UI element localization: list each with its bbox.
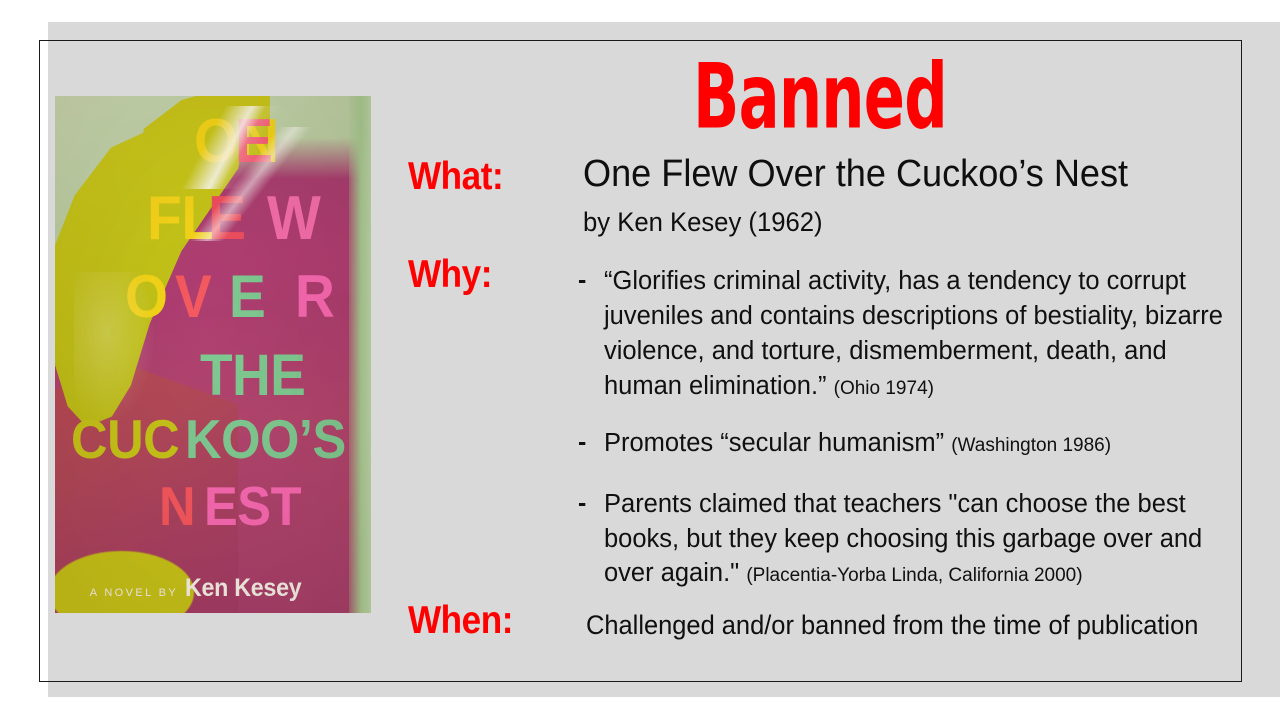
bullet-dash-icon: - — [578, 265, 586, 295]
bullet-dash-icon: - — [578, 488, 586, 518]
reasons-list: - “Glorifies criminal activity, has a te… — [576, 264, 1236, 611]
reason-citation: (Washington 1986) — [951, 435, 1111, 456]
reason-citation: (Placentia-Yorba Linda, California 2000) — [746, 565, 1082, 586]
reason-text: Promotes “secular humanism” — [604, 429, 944, 457]
list-item: - “Glorifies criminal activity, has a te… — [576, 264, 1236, 404]
reason-citation: (Ohio 1974) — [834, 378, 934, 399]
list-item: - Promotes “secular humanism” (Washingto… — [576, 426, 1236, 461]
book-title-text: One Flew Over the Cuckoo’s Nest — [583, 155, 1128, 195]
label-why: Why: — [408, 255, 492, 294]
book-byline-text: by Ken Kesey (1962) — [583, 208, 823, 238]
cover-aging-overlay — [55, 96, 371, 613]
slide-headline: Banned — [492, 52, 1148, 142]
when-value-text: Challenged and/or banned from the time o… — [586, 611, 1198, 640]
bullet-dash-icon: - — [578, 427, 586, 457]
list-item: - Parents claimed that teachers "can cho… — [576, 487, 1236, 592]
slide-stage: ON E FL E W O V E R THE CUC KOO’S N EST … — [0, 0, 1280, 720]
label-when: When: — [408, 601, 513, 640]
label-what: What: — [408, 157, 503, 196]
book-cover-image: ON E FL E W O V E R THE CUC KOO’S N EST … — [55, 96, 371, 613]
